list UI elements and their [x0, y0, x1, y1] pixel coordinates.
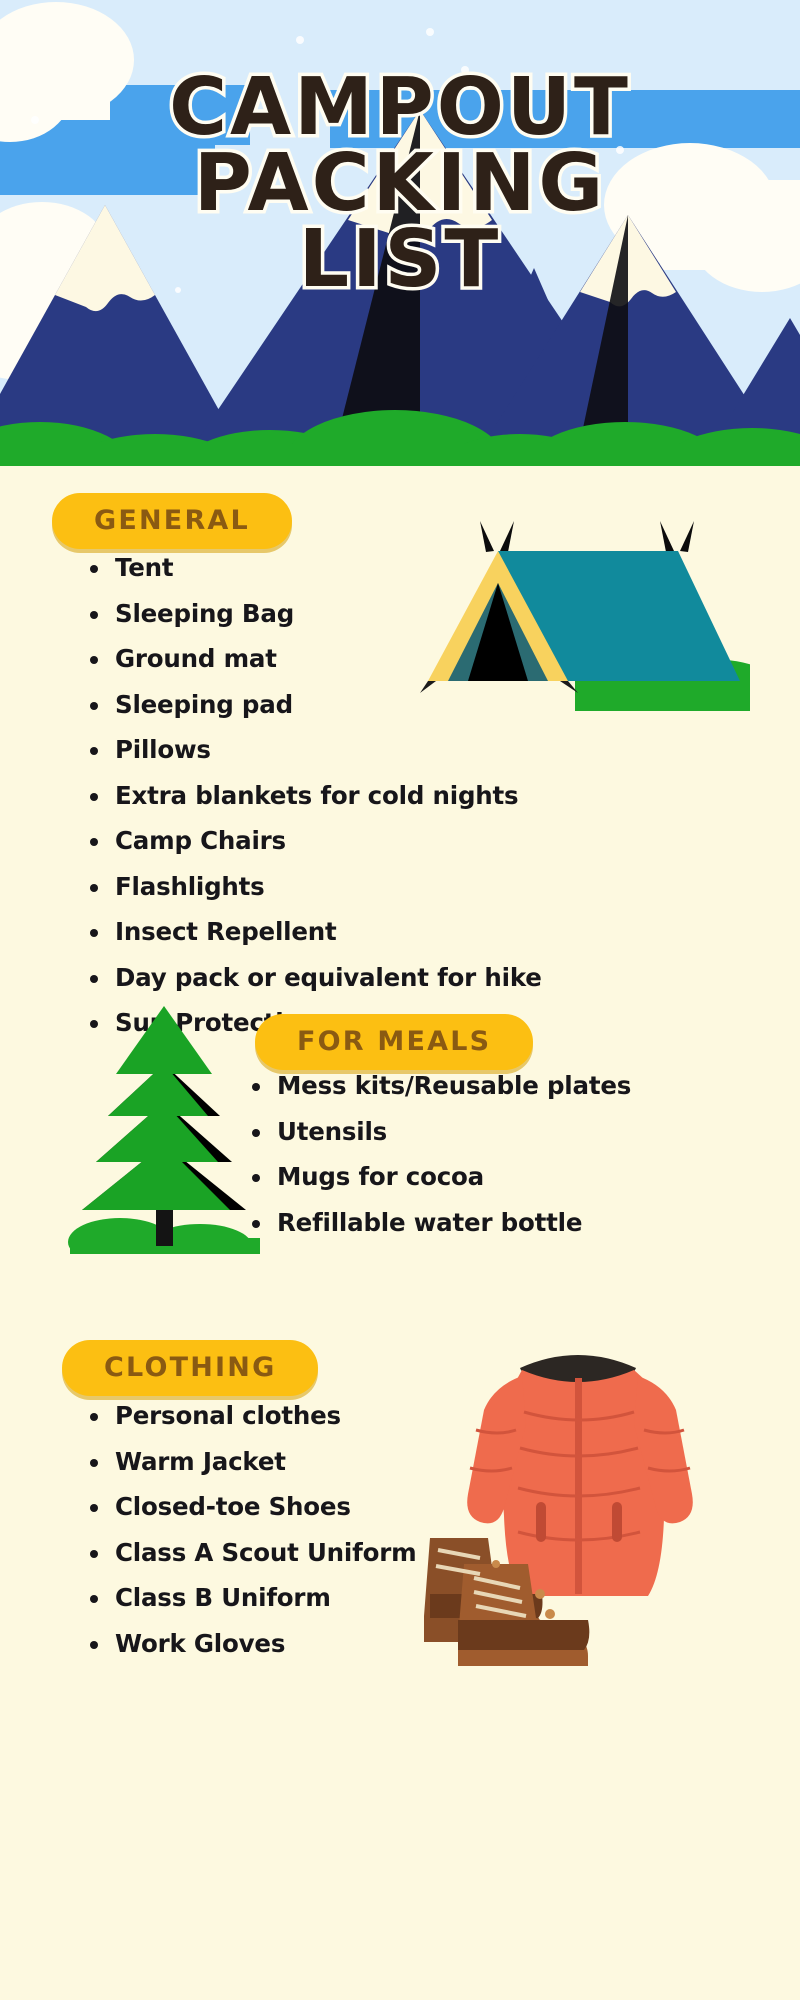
packing-list-body: GENERAL Tent Sleeping Bag Ground mat Sle…	[0, 466, 800, 1666]
page-title: CAMPOUT PACKING LIST	[0, 70, 800, 297]
badge-wrap-meals: FOR MEALS	[255, 1014, 533, 1070]
list-item[interactable]: Insect Repellent	[88, 920, 558, 945]
packing-list-general: Tent Sleeping Bag Ground mat Sleeping pa…	[88, 556, 558, 1036]
tent-pole-right-a	[660, 521, 674, 552]
jacket-pocket-left	[536, 1502, 546, 1542]
tent-pole-left-b	[500, 521, 514, 552]
packing-list-meals: Mess kits/Reusable plates Utensils Mugs …	[250, 1074, 700, 1235]
list-item[interactable]: Refillable water bottle	[250, 1211, 700, 1236]
list-item[interactable]: Work Gloves	[88, 1632, 508, 1657]
list-item[interactable]: Extra blankets for cold nights	[88, 784, 558, 809]
hero-header: CAMPOUT PACKING LIST	[0, 0, 800, 466]
list-item[interactable]: Sleeping pad	[88, 693, 558, 718]
pine-tree-icon	[60, 994, 270, 1254]
list-item[interactable]: Tent	[88, 556, 558, 581]
list-wrap-meals: Mess kits/Reusable plates Utensils Mugs …	[250, 1074, 700, 1256]
badge-wrap-general: GENERAL	[52, 493, 292, 549]
badge-wrap-clothing: CLOTHING	[62, 1340, 318, 1396]
tent-pole-right-b	[680, 521, 694, 552]
list-item[interactable]: Personal clothes	[88, 1404, 508, 1429]
list-item[interactable]: Sleeping Bag	[88, 602, 558, 627]
jacket-pocket-right	[612, 1502, 622, 1542]
list-item[interactable]: Flashlights	[88, 875, 558, 900]
list-item[interactable]: Mess kits/Reusable plates	[250, 1074, 700, 1099]
section-badge-meals[interactable]: FOR MEALS	[255, 1014, 533, 1070]
list-item[interactable]: Camp Chairs	[88, 829, 558, 854]
list-item[interactable]: Closed-toe Shoes	[88, 1495, 508, 1520]
section-badge-clothing[interactable]: CLOTHING	[62, 1340, 318, 1396]
list-wrap-clothing: Personal clothes Warm Jacket Closed-toe …	[88, 1404, 508, 1677]
section-clothing: CLOTHING Personal clothes Warm Jacket Cl…	[0, 1326, 800, 1666]
tent-pole-left-a	[480, 521, 494, 552]
list-item[interactable]: Class B Uniform	[88, 1586, 508, 1611]
list-item[interactable]: Mugs for cocoa	[250, 1165, 700, 1190]
list-item[interactable]: Ground mat	[88, 647, 558, 672]
list-item[interactable]: Warm Jacket	[88, 1450, 508, 1475]
list-wrap-general: Tent Sleeping Bag Ground mat Sleeping pa…	[88, 556, 558, 1057]
title-line-3: LIST	[0, 222, 800, 298]
packing-list-clothing: Personal clothes Warm Jacket Closed-toe …	[88, 1404, 508, 1656]
list-item[interactable]: Pillows	[88, 738, 558, 763]
section-badge-general[interactable]: GENERAL	[52, 493, 292, 549]
section-meals: FOR MEALS Mess kits/Reusable plates Uten…	[0, 1006, 800, 1326]
list-item[interactable]: Class A Scout Uniform	[88, 1541, 508, 1566]
jacket-zipper	[575, 1378, 582, 1594]
title-line-1: CAMPOUT	[0, 70, 800, 146]
title-line-2: PACKING	[0, 146, 800, 222]
tree-layer1	[116, 1006, 212, 1074]
list-item[interactable]: Day pack or equivalent for hike	[88, 966, 558, 991]
list-item[interactable]: Utensils	[250, 1120, 700, 1145]
section-general: GENERAL Tent Sleeping Bag Ground mat Sle…	[0, 466, 800, 1006]
